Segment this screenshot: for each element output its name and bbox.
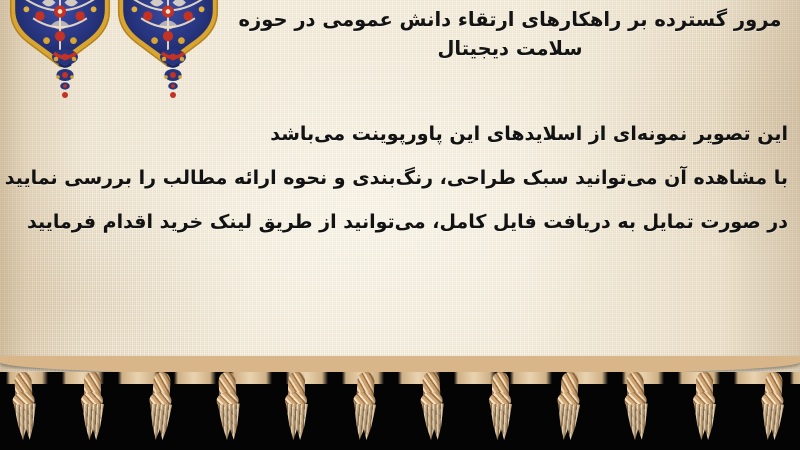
tassel <box>546 372 590 445</box>
tassel-skirt <box>554 403 582 440</box>
title-line-1: مرور گسترده بر راهکارهای ارتقاء دانش عمو… <box>230 6 790 35</box>
tassel <box>206 372 250 445</box>
tassel <box>2 372 46 445</box>
fringe-top-arcs <box>0 372 800 384</box>
body-line-2: با مشاهده آن می‌توانید سبک طراحی، رنگ‌بن… <box>8 156 788 200</box>
tassel <box>342 372 386 445</box>
tassel <box>480 372 520 444</box>
title-line-2: سلامت دیجیتال <box>230 35 790 64</box>
body-line-1: این تصویر نمونه‌ای از اسلایدهای این پاور… <box>8 112 788 156</box>
tassel <box>72 372 112 444</box>
tassel-skirt <box>216 403 244 440</box>
tassel-skirt <box>80 404 106 440</box>
carpet-fringe <box>0 372 800 450</box>
tassel-skirt <box>12 403 40 440</box>
tassel-skirt <box>488 404 514 440</box>
tassel <box>750 372 794 445</box>
tassel-skirt <box>624 403 652 440</box>
body-line-3: در صورت تمایل به دریافت فایل کامل، می‌تو… <box>8 200 788 244</box>
tassel <box>614 372 658 445</box>
tassel <box>684 372 724 444</box>
slide-canvas: مرور گسترده بر راهکارهای ارتقاء دانش عمو… <box>0 0 800 450</box>
tassel <box>410 372 454 445</box>
tassel-skirt <box>692 404 718 440</box>
tassel-skirt <box>758 403 786 440</box>
tassel <box>276 372 316 444</box>
slide-title: مرور گسترده بر راهکارهای ارتقاء دانش عمو… <box>230 6 790 64</box>
tassel-skirt <box>284 404 310 440</box>
tassel-skirt <box>146 403 174 440</box>
tassel <box>138 372 182 445</box>
tassel-skirt <box>420 403 448 440</box>
tassel-skirt <box>350 403 378 440</box>
slide-body-text: این تصویر نمونه‌ای از اسلایدهای این پاور… <box>8 112 788 244</box>
